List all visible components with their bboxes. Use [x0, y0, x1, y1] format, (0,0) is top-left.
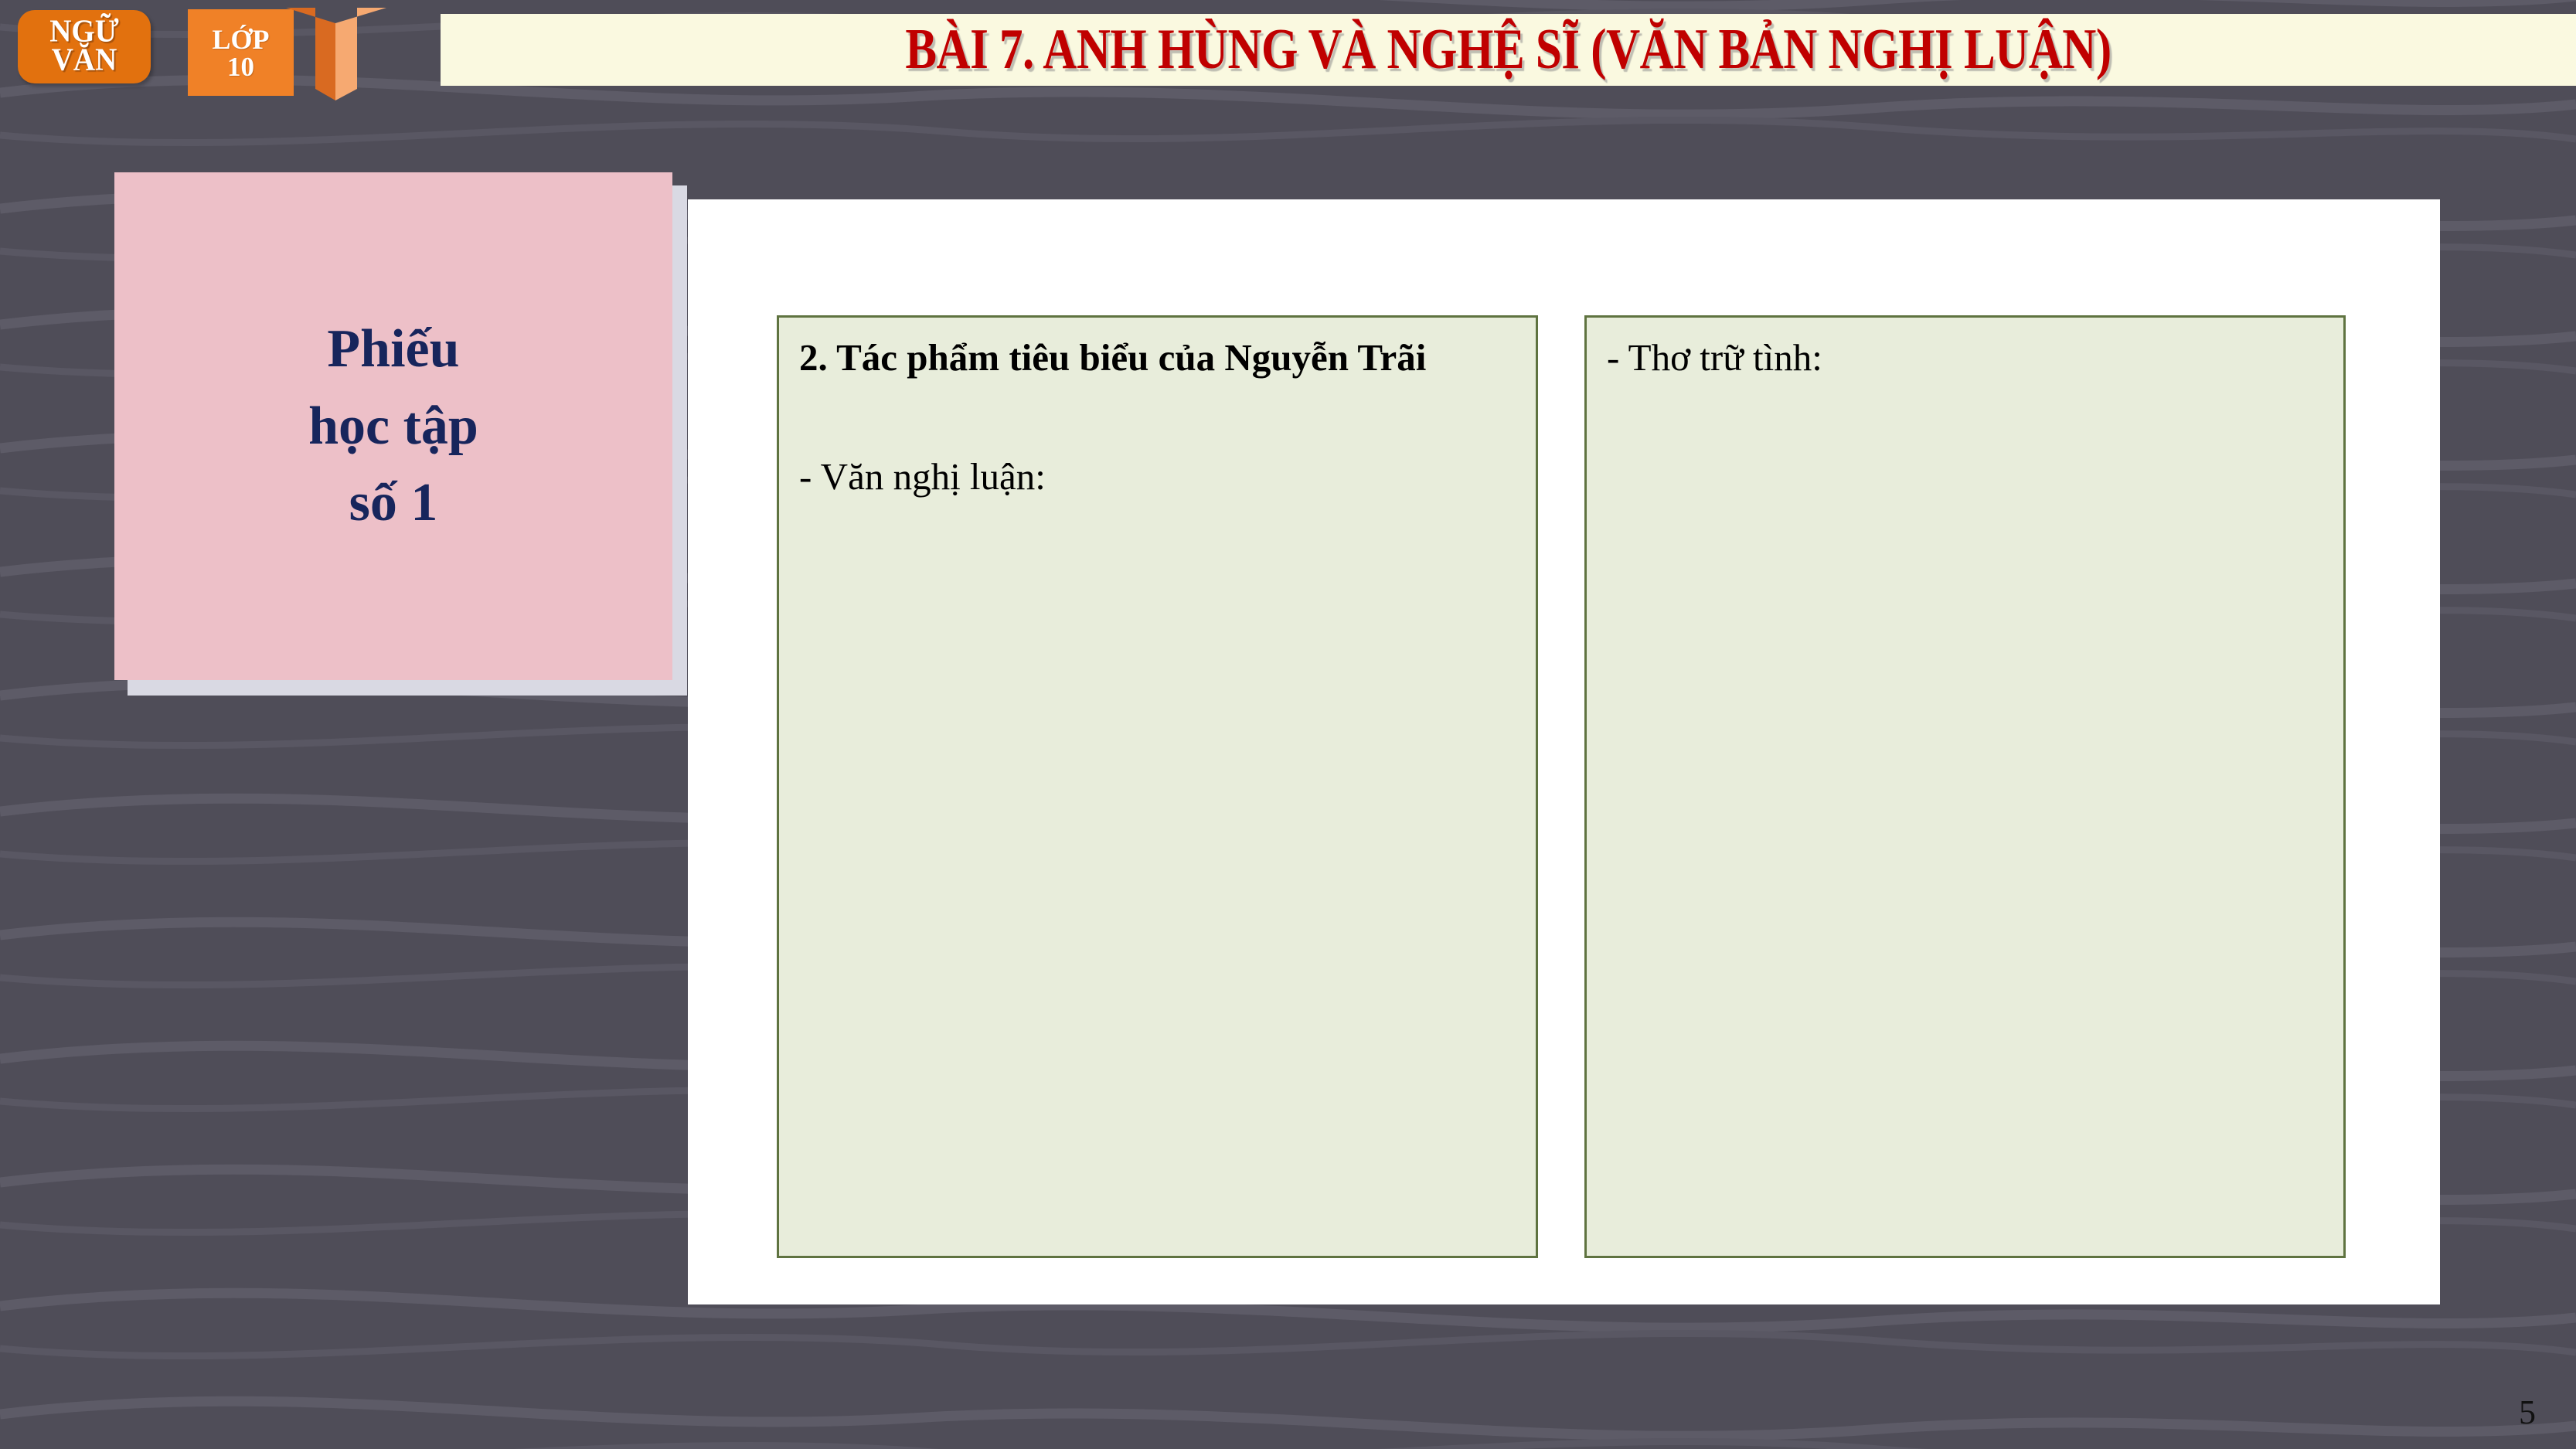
- page-number: 5: [2519, 1393, 2536, 1432]
- worksheet-card-label: Phiếu học tập số 1: [308, 311, 478, 541]
- grade-badge-label: LỚP: [212, 26, 269, 53]
- title-banner: BÀI 7. ANH HÙNG VÀ NGHỆ SĨ (VĂN BẢN NGHỊ…: [441, 14, 2576, 86]
- page-title: BÀI 7. ANH HÙNG VÀ NGHỆ SĨ (VĂN BẢN NGHỊ…: [905, 17, 2111, 83]
- subject-badge-line2: VĂN: [52, 46, 117, 75]
- answer-box-item-tho-tru-tinh: - Thơ trữ tình:: [1607, 335, 2323, 381]
- subject-badge: NGỮ VĂN: [18, 10, 151, 83]
- slide-canvas: Phiếu học tập số 1 2. Tác phẩm tiêu biểu…: [0, 0, 2576, 1449]
- answer-box-tac-pham[interactable]: 2. Tác phẩm tiêu biểu của Nguyễn Trãi - …: [777, 315, 1538, 1258]
- open-book-icon: [286, 8, 386, 100]
- answer-box-tho-tru-tinh[interactable]: - Thơ trữ tình:: [1584, 315, 2346, 1258]
- worksheet-card: Phiếu học tập số 1: [114, 172, 672, 680]
- answer-box-item-van-nghi-luan: - Văn nghị luận:: [799, 454, 1516, 500]
- subject-logo-cluster: NGỮ VĂN LỚP 10: [0, 0, 495, 178]
- grade-badge-number: 10: [227, 53, 254, 80]
- grade-badge: LỚP 10: [188, 9, 294, 96]
- answer-box-heading: 2. Tác phẩm tiêu biểu của Nguyễn Trãi: [799, 335, 1516, 381]
